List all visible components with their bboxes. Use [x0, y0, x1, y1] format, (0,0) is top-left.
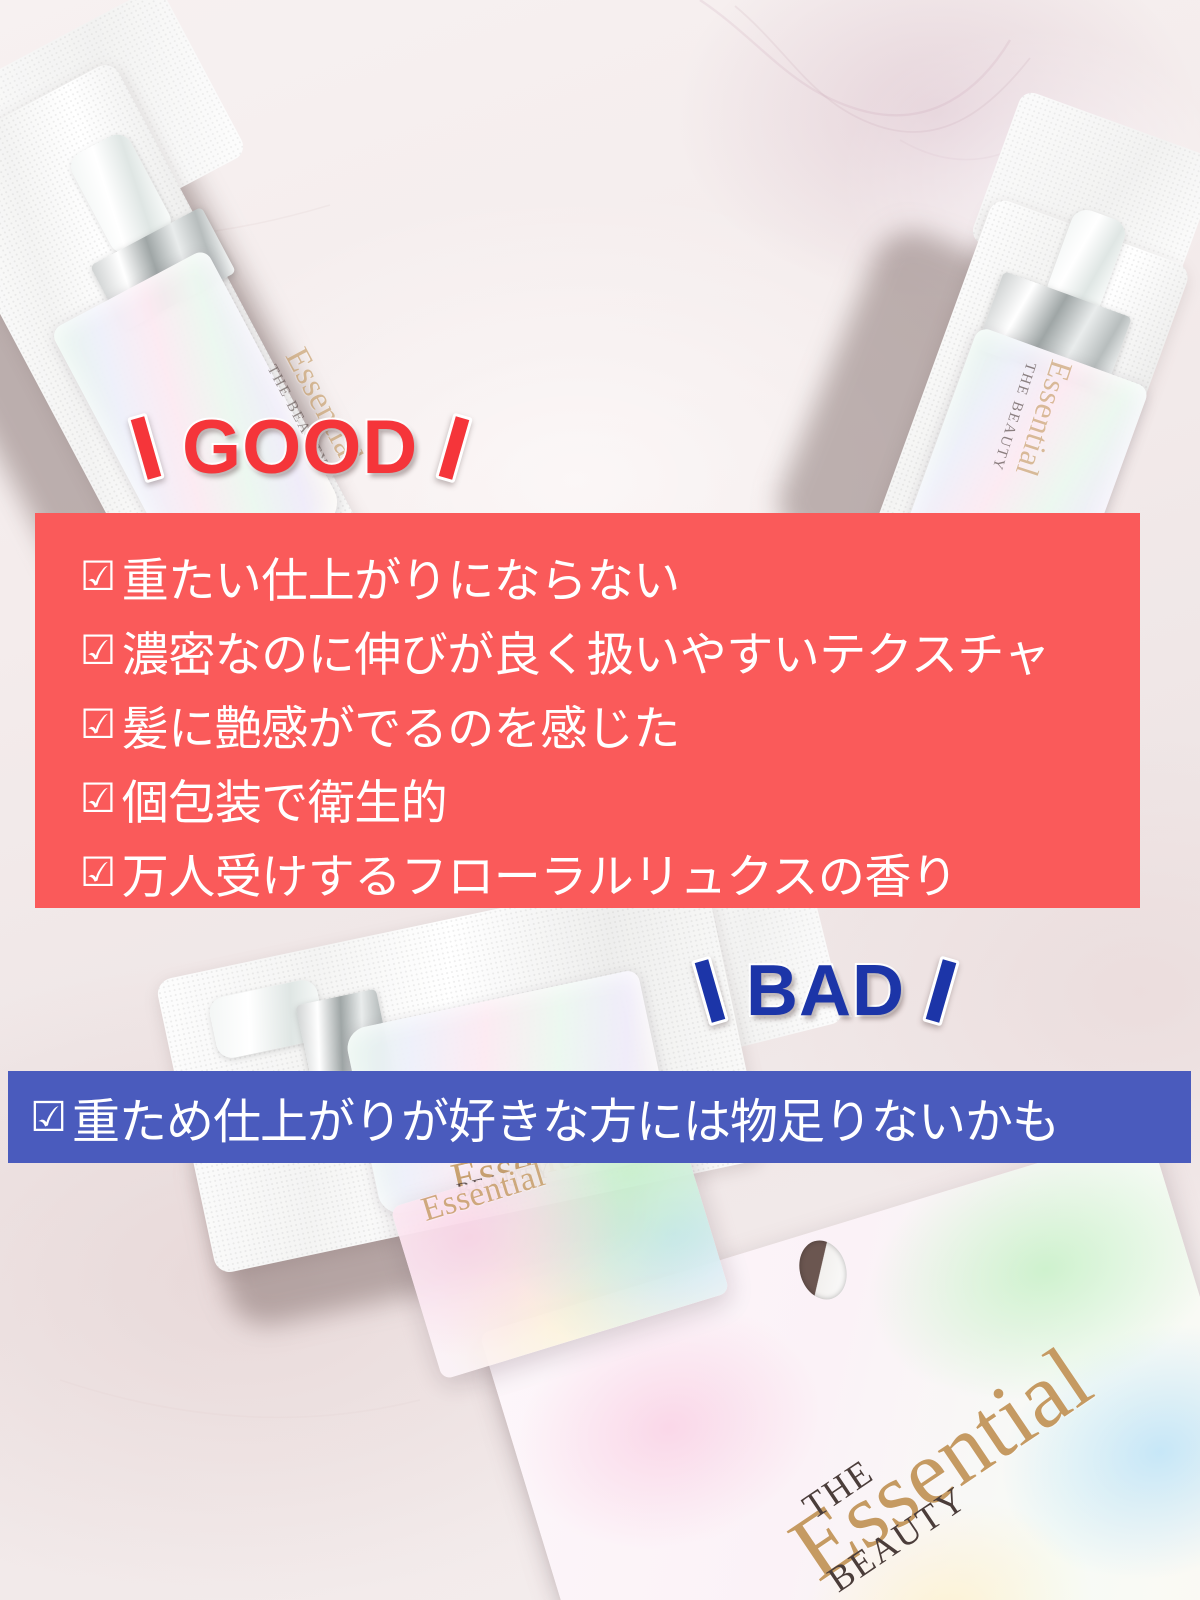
- good-list-item-label: 個包装で衛生的: [122, 764, 448, 833]
- good-list-item: ☑ 重たい仕上がりにならない: [35, 539, 1140, 613]
- checkbox-icon: ☑: [80, 552, 116, 600]
- checkbox-icon: ☑: [80, 700, 116, 748]
- good-list-item-label: 重たい仕上がりにならない: [122, 542, 680, 611]
- good-list-item: ☑ 個包装で衛生的: [35, 761, 1140, 835]
- review-card-canvas: Essential THE BEAUTY Essential THE BEAUT…: [0, 0, 1200, 1600]
- good-list-item-label: 濃密なのに伸びが良く扱いやすいテクスチャ: [122, 616, 1050, 685]
- bad-badge: BAD: [700, 955, 951, 1027]
- checkbox-icon: ☑: [80, 626, 116, 674]
- good-list-item: ☑ 髪に艶感がでるのを感じた: [35, 687, 1140, 761]
- checkbox-icon: ☑: [80, 774, 116, 822]
- good-list-panel: ☑ 重たい仕上がりにならない ☑ 濃密なのに伸びが良く扱いやすいテクスチャ ☑ …: [35, 513, 1140, 908]
- good-list-item: ☑ 濃密なのに伸びが良く扱いやすいテクスチャ: [35, 613, 1140, 687]
- checkbox-icon: ☑: [30, 1093, 66, 1141]
- bad-badge-label: BAD: [746, 955, 905, 1027]
- good-list-item: ☑ 万人受けするフローラルリュクスの香り: [35, 835, 1140, 909]
- bad-list-panel: ☑ 重ため仕上がりが好きな方には物足りないかも: [8, 1071, 1191, 1163]
- good-list-item-label: 髪に艶感がでるのを感じた: [122, 690, 680, 759]
- good-badge-label: GOOD: [182, 410, 418, 486]
- good-list-item-label: 万人受けするフローラルリュクスの香り: [122, 838, 958, 907]
- good-badge: GOOD: [136, 410, 464, 486]
- bad-list-item-label: 重ため仕上がりが好きな方には物足りないかも: [72, 1082, 1059, 1152]
- checkbox-icon: ☑: [80, 848, 116, 896]
- pouch-bottom-right: Essential THE BEAUTY Essential: [500, 1180, 1200, 1600]
- bad-list-item: ☑ 重ため仕上がりが好きな方には物足りないかも: [8, 1071, 1191, 1163]
